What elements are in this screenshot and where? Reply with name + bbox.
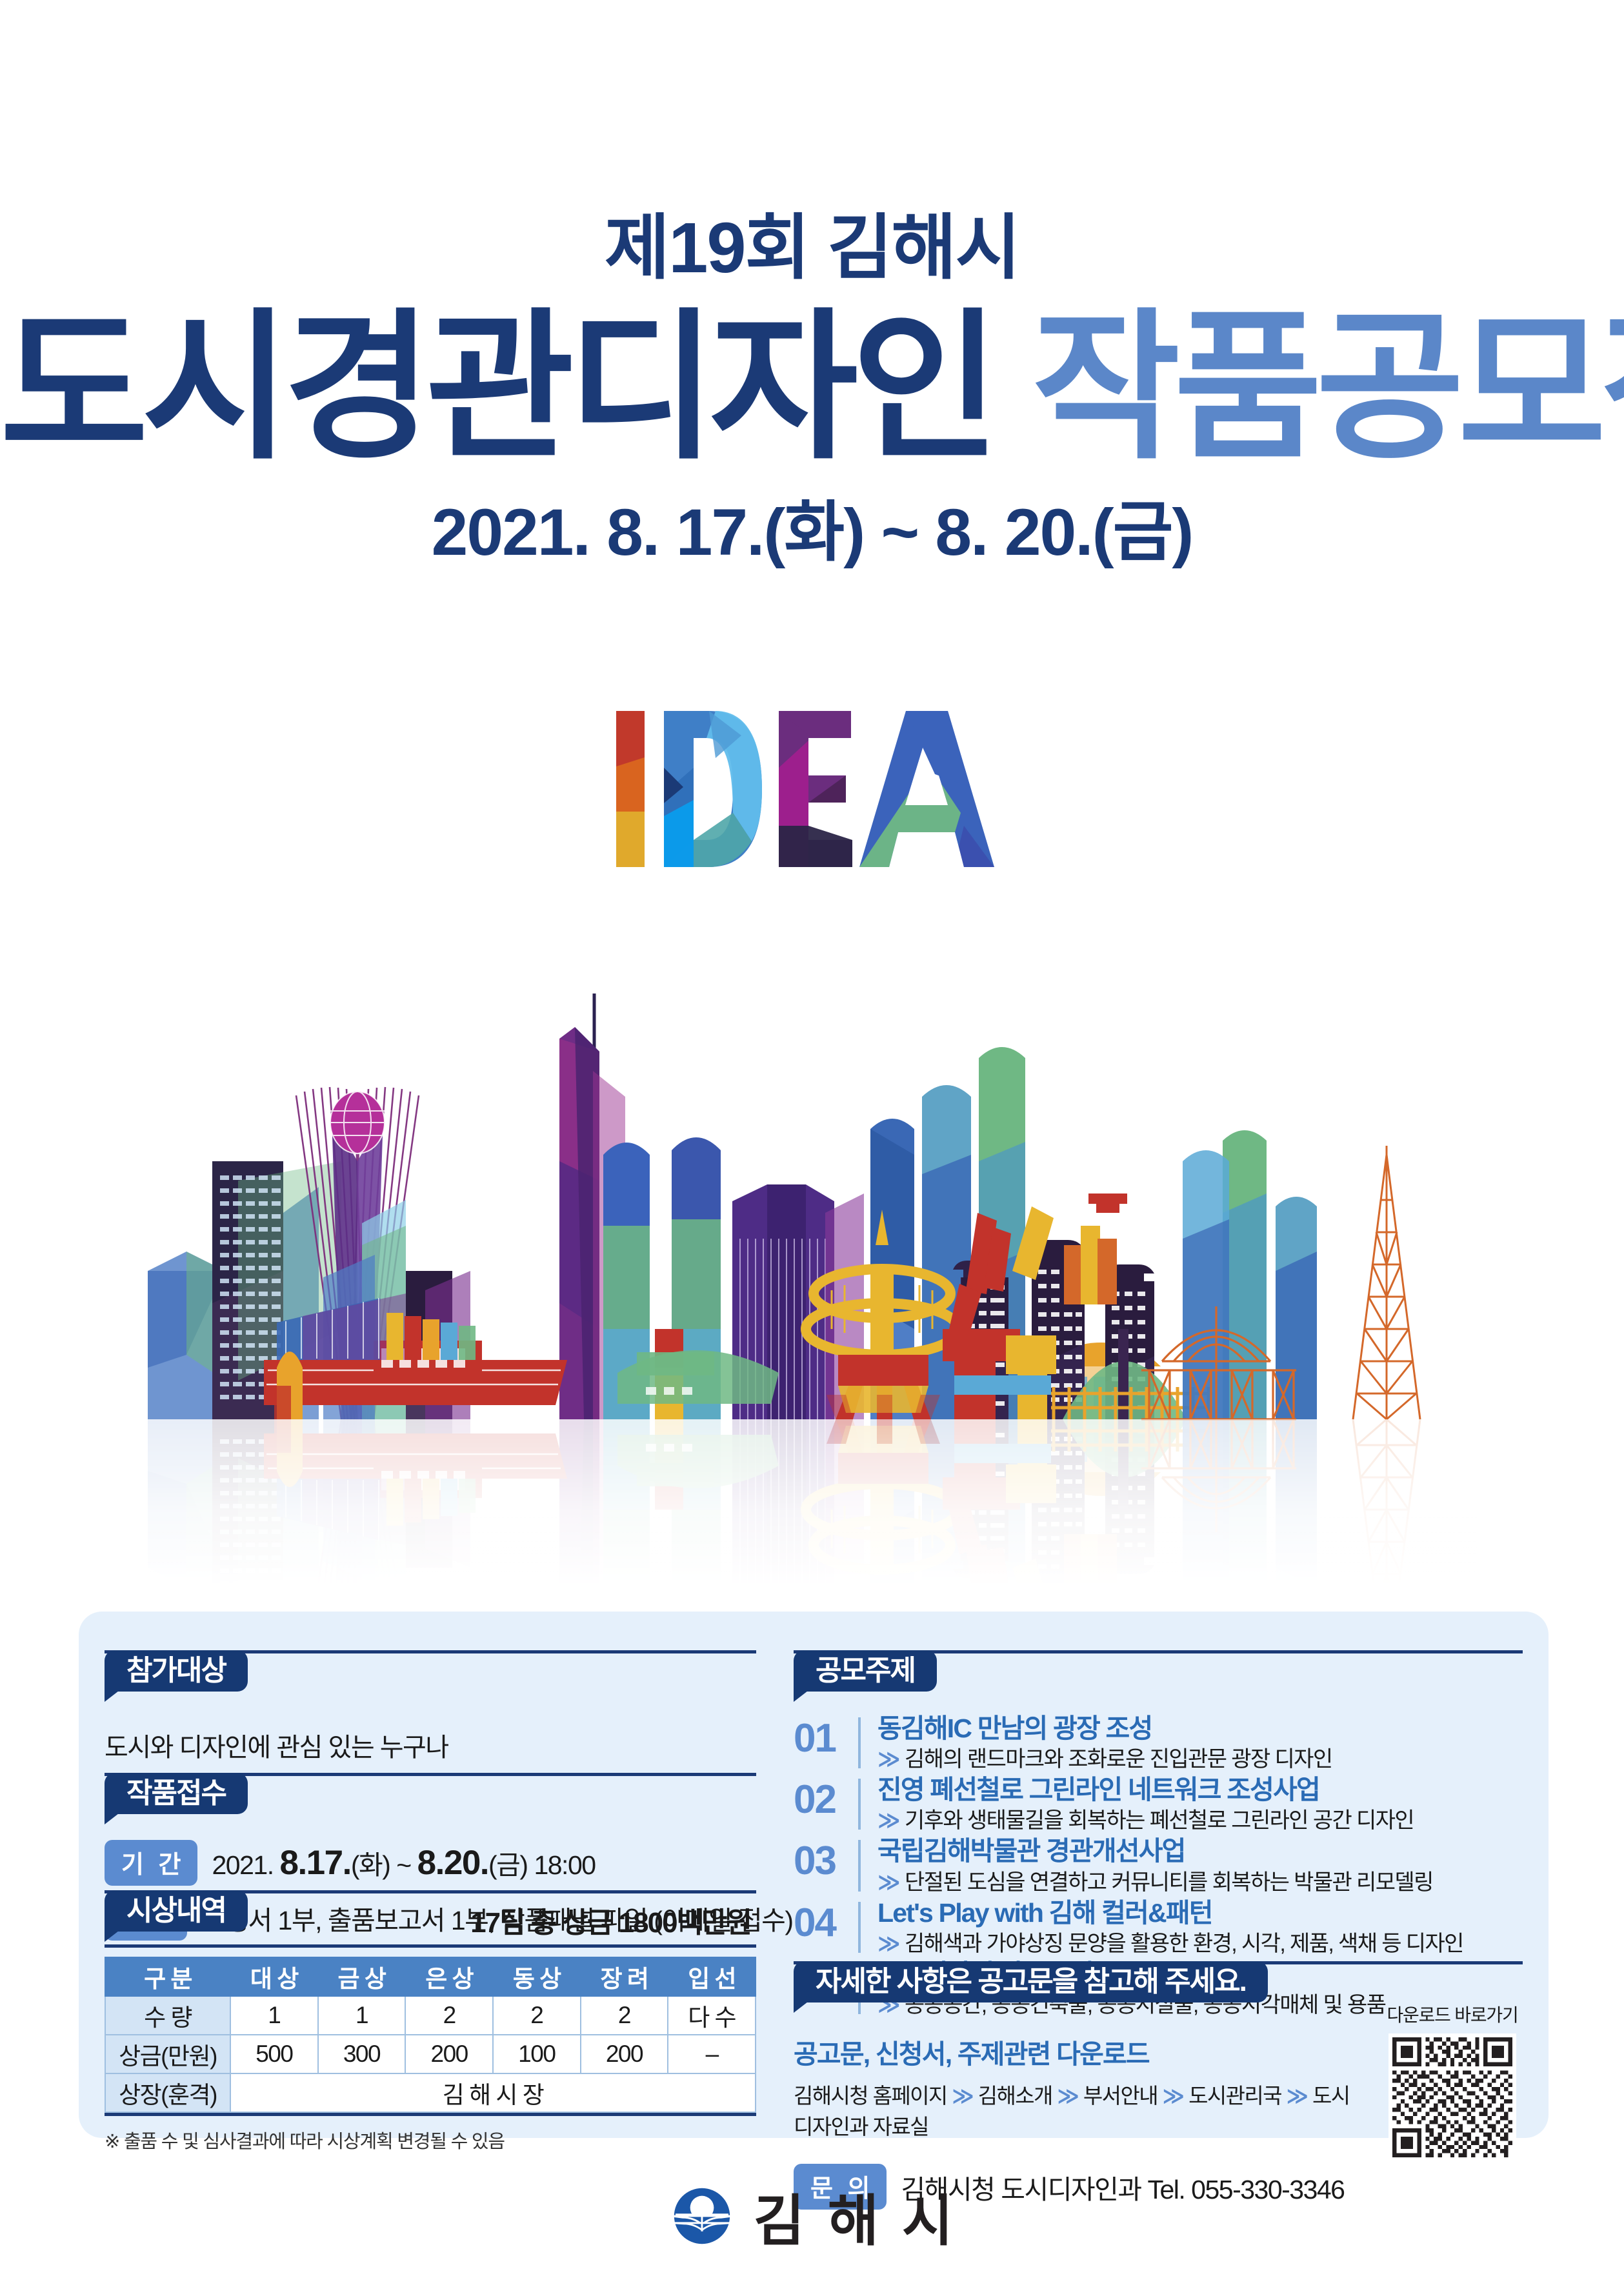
theme-text: 국립김해박물관 경관개선사업 ≫단절된 도심을 연결하고 커뮤니티를 회복하는 … [877,1836,1523,1895]
prize-certificate-value: 김 해 시 장 [230,2073,756,2112]
awards-summary: 17팀 총 상금 1800백만원 [470,1899,751,1941]
period-suffix: (금) 18:00 [488,1850,596,1880]
theme-text: Let's Play with 김해 컬러&패턴 ≫김해색과 가야상징 문양을 … [877,1898,1523,1957]
prize-col-4: 동 상 [493,1957,581,1996]
info-panel-left-column: 참가대상 도시와 디자인에 관심 있는 누구나 작품접수 기 간 2021. 8… [79,1612,782,2138]
list-item: 04 Let's Play with 김해 컬러&패턴 ≫김해색과 가야상징 문… [794,1898,1523,1957]
idea-letter-d [664,711,762,867]
section-themes-title: 공모주제 [794,1650,937,1692]
period-mid: (화) ~ [351,1850,417,1880]
idea-letter-a [859,711,994,867]
list-item: 03 국립김해박물관 경관개선사업 ≫단절된 도심을 연결하고 커뮤니티를 회복… [794,1836,1523,1895]
table-row: 상금(만원) 500 300 200 100 200 – [105,2035,756,2073]
breadcrumb-item-3: 도시관리국 [1188,2084,1281,2108]
prize-row-1-cell-2: 200 [405,2035,493,2073]
period-start: 8.17. [279,1844,350,1882]
city-ci-logo: 김 해 시 [667,2175,957,2256]
idea-logo [0,697,1624,887]
breadcrumb-item-0: 김해시청 홈페이지 [794,2084,947,2108]
theme-text: 진영 폐선철로 그린라인 네트워크 조성사업 ≫기후와 생태물길을 회복하는 폐… [877,1775,1523,1833]
prize-table: 구 분 대 상 금 상 은 상 동 상 장 려 입 선 수 량 1 [105,1957,756,2113]
submission-period-value: 2021. 8.17.(화) ~ 8.20.(금) 18:00 [212,1843,595,1883]
chevron-double-right-icon: ≫ [877,1932,899,1956]
prize-col-6: 입 선 [668,1957,756,1996]
prize-table-body: 수 량 1 1 2 2 2 다 수 상금(만원) 500 300 2 [105,1996,756,2112]
chevron-double-right-icon: ≫ [952,2084,973,2108]
poster-header: 제19회 김해시 도시경관디자인 작품공모전 2021. 8. 17.(화) ~… [0,0,1624,565]
list-item: 01 동김해IC 만남의 광장 조성 ≫김해의 랜드마크와 조화로운 진입관문 … [794,1713,1523,1772]
theme-divider [858,1717,861,1768]
list-item: 02 진영 폐선철로 그린라인 네트워크 조성사업 ≫기후와 생태물길을 회복하… [794,1775,1523,1833]
theme-title: 진영 폐선철로 그린라인 네트워크 조성사업 [877,1775,1523,1805]
page-title: 도시경관디자인 작품공모전 [0,307,1624,468]
chevron-double-right-icon: ≫ [877,1870,899,1895]
submission-period-row: 기 간 2021. 8.17.(화) ~ 8.20.(금) 18:00 [105,1840,756,1886]
theme-divider [858,1779,861,1830]
idea-letter-e [779,711,852,867]
prize-row-0-cell-4: 2 [581,1996,668,2035]
prize-row-1-cell-3: 100 [493,2035,581,2073]
awards-footnote: ※ 출품 수 및 심사결과에 따라 시상계획 변경될 수 있음 [105,2126,756,2153]
prize-row-1-cell-1: 300 [318,2035,406,2073]
section-eligibility: 참가대상 도시와 디자인에 관심 있는 누구나 [105,1650,756,1764]
prize-col-3: 은 상 [405,1957,493,1996]
qr-code[interactable] [1388,2033,1516,2161]
chevron-double-right-icon: ≫ [877,1808,899,1833]
qr-label: 다운로드 바로가기 [1385,2001,1520,2027]
theme-title: 동김해IC 만남의 광장 조성 [877,1713,1523,1744]
breadcrumb: 김해시청 홈페이지 ≫ 김해소개 ≫ 부서안내 ≫ 도시관리국 ≫ 도시디자인과… [794,2079,1361,2141]
period-end: 8.20. [417,1844,488,1882]
theme-number: 01 [794,1713,858,1759]
theme-subtitle: ≫기후와 생태물길을 회복하는 폐선철로 그린라인 공간 디자인 [877,1808,1523,1833]
prize-header-row: 구 분 대 상 금 상 은 상 동 상 장 려 입 선 [105,1957,756,1996]
theme-number: 03 [794,1836,858,1881]
theme-subtitle: ≫단절된 도심을 연결하고 커뮤니티를 회복하는 박물관 리모델링 [877,1870,1523,1895]
table-row: 수 량 1 1 2 2 2 다 수 [105,1996,756,2035]
prize-table-head: 구 분 대 상 금 상 은 상 동 상 장 려 입 선 [105,1957,756,1996]
prize-row-0-label: 수 량 [105,1996,230,2035]
theme-divider [858,1902,861,1953]
theme-divider [858,1840,861,1891]
prize-table-top-rule [105,1944,756,1948]
section-awards-title: 시상내역 [105,1890,248,1932]
section-eligibility-title: 참가대상 [105,1650,248,1692]
prize-row-1-cell-4: 200 [581,2035,668,2073]
prize-certificate-label: 상장(훈격) [105,2073,230,2112]
skyline-svg [148,968,1477,1587]
section-awards: 시상내역 17팀 총 상금 1800백만원 구 분 대 상 금 상 은 상 동 … [105,1890,756,2153]
event-dateline: 2021. 8. 17.(화) ~ 8. 20.(금) [0,499,1624,565]
section-submission-header: 작품접수 [105,1773,756,1819]
theme-subtitle: ≫김해색과 가야상징 문양을 활용한 환경, 시각, 제품, 색채 등 디자인 [877,1932,1523,1957]
idea-letter-i [616,711,645,867]
section-awards-header: 시상내역 17팀 총 상금 1800백만원 [105,1890,756,1937]
theme-subtitle-text: 김해색과 가야상징 문양을 활용한 환경, 시각, 제품, 색채 등 디자인 [905,1932,1463,1956]
prize-row-0-cell-0: 1 [230,1996,318,2035]
period-prefix: 2021. [212,1850,279,1880]
prize-col-0: 구 분 [105,1957,230,1996]
info-panel-right-column: 공모주제 01 동김해IC 만남의 광장 조성 ≫김해의 랜드마크와 조화로운 … [794,1612,1549,2138]
section-eligibility-header: 참가대상 [105,1650,756,1697]
prize-row-0-cell-5: 다 수 [668,1996,756,2035]
section-submission-title: 작품접수 [105,1773,248,1814]
download-title: 공고문, 신청서, 주제관련 다운로드 [794,2032,1361,2071]
section-themes-header: 공모주제 [794,1650,1523,1697]
table-row: 상장(훈격) 김 해 시 장 [105,2073,756,2112]
theme-number: 02 [794,1775,858,1820]
prize-row-0-cell-2: 2 [405,1996,493,2035]
page-title-part2: 작품공모전 [1032,297,1624,477]
city-ci-text: 김 해 시 [754,2175,957,2256]
info-panel: 참가대상 도시와 디자인에 관심 있는 누구나 작품접수 기 간 2021. 8… [79,1612,1549,2138]
prize-row-1-cell-0: 500 [230,2035,318,2073]
prize-table-bottom-rule [105,2113,756,2116]
section-notice-title: 자세한 사항은 공고문을 참고해 주세요. [794,1961,1268,2002]
city-skyline-illustration [0,968,1624,1587]
poster-kicker: 제19회 김해시 [0,213,1624,284]
prize-col-5: 장 려 [581,1957,668,1996]
section-notice: 자세한 사항은 공고문을 참고해 주세요. 공고문, 신청서, 주제관련 다운로… [794,1961,1523,2210]
theme-text: 동김해IC 만남의 광장 조성 ≫김해의 랜드마크와 조화로운 진입관문 광장 … [877,1713,1523,1772]
breadcrumb-item-1: 김해소개 [978,2084,1052,2108]
idea-logo-svg [612,697,1012,884]
submission-period-chip: 기 간 [105,1840,197,1886]
breadcrumb-item-2: 부서안내 [1083,2084,1158,2108]
page-title-part1: 도시경관디자인 [0,297,1032,477]
theme-title: 국립김해박물관 경관개선사업 [877,1836,1523,1866]
prize-row-1-label: 상금(만원) [105,2035,230,2073]
chevron-double-right-icon: ≫ [1057,2084,1078,2108]
gimhae-emblem-icon [667,2181,737,2251]
theme-number: 04 [794,1898,858,1943]
theme-subtitle: ≫김해의 랜드마크와 조화로운 진입관문 광장 디자인 [877,1747,1523,1772]
qr-code-svg [1392,2037,1512,2157]
prize-col-2: 금 상 [318,1957,406,1996]
chevron-double-right-icon: ≫ [1163,2084,1184,2108]
prize-col-1: 대 상 [230,1957,318,1996]
theme-title: Let's Play with 김해 컬러&패턴 [877,1898,1523,1928]
theme-subtitle-text: 기후와 생태물길을 회복하는 폐선철로 그린라인 공간 디자인 [905,1808,1414,1833]
prize-row-0-cell-1: 1 [318,1996,406,2035]
poster-root: 제19회 김해시 도시경관디자인 작품공모전 2021. 8. 17.(화) ~… [0,0,1624,2287]
theme-subtitle-text: 김해의 랜드마크와 조화로운 진입관문 광장 디자인 [905,1747,1332,1772]
chevron-double-right-icon: ≫ [877,1747,899,1772]
qr-code-block[interactable]: 다운로드 바로가기 [1385,2001,1520,2161]
footer: 김 해 시 [0,2175,1624,2256]
chevron-double-right-icon: ≫ [1286,2084,1307,2108]
prize-row-1-cell-5: – [668,2035,756,2073]
prize-row-0-cell-3: 2 [493,1996,581,2035]
eligibility-text: 도시와 디자인에 관심 있는 누구나 [105,1726,756,1764]
theme-subtitle-text: 단절된 도심을 연결하고 커뮤니티를 회복하는 박물관 리모델링 [905,1870,1433,1895]
